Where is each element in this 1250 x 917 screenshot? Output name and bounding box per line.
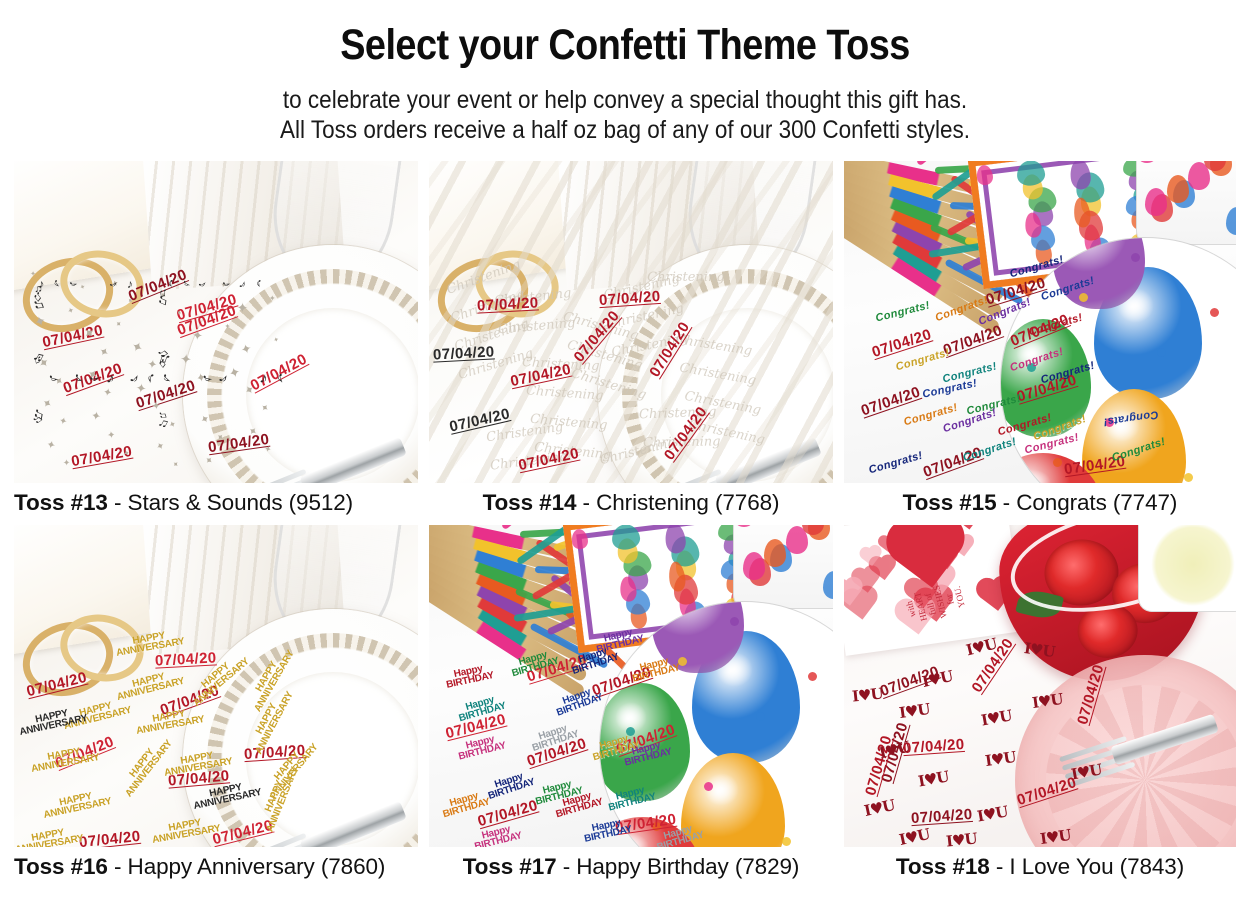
product-sku: (7829)	[735, 854, 799, 879]
confetti-sprinkle: ♪	[167, 277, 175, 292]
product-photo-birthday[interactable]: 07/04/2007/04/2007/04/2007/04/2007/04/20…	[429, 525, 833, 847]
valentine-card: withHEARTfull ofWISHESforYOU.	[844, 525, 1025, 656]
confetti-word: HAPPYANNIVERSARY	[14, 825, 84, 847]
confetti-word: HAPPYANNIVERSARY	[29, 745, 100, 775]
wedding-rings-icon	[22, 615, 142, 693]
confetti-sprinkle: ✦	[268, 293, 275, 302]
confetti-word: I♥U	[945, 829, 977, 847]
product-photo-i-love-you[interactable]: withHEARTfull ofWISHESforYOU.07/04/2007/…	[844, 525, 1236, 847]
product-theme: Happy Anniversary	[128, 854, 315, 879]
confetti-word: Congrats!	[894, 347, 951, 374]
subtitle-line-2: All Toss orders receive a half oz bag of…	[63, 115, 1188, 145]
party-cup	[1136, 161, 1236, 245]
confetti-date: 07/04/20	[870, 326, 934, 361]
confetti-date: 07/04/20	[910, 806, 973, 827]
confetti-word: Congrats!	[875, 299, 932, 324]
confetti-word: HappyBIRTHDAY	[456, 693, 507, 724]
product-separator: -	[576, 490, 596, 515]
confetti-sprinkle: ✦	[233, 302, 251, 315]
confetti-word: HAPPYANNIVERSARY	[41, 788, 112, 820]
confetti-sprinkle: ✦	[30, 270, 36, 278]
product-name: Toss #17	[463, 854, 557, 879]
confetti-date: 07/04/20	[859, 383, 923, 419]
confetti-word: HappyBIRTHDAY	[533, 777, 584, 806]
product-name: Toss #13	[14, 490, 108, 515]
confetti-sprinkle: ✦	[179, 350, 192, 368]
confetti-date: 07/04/20	[968, 635, 1017, 696]
confetti-date: 07/04/20	[78, 828, 141, 847]
product-cell-toss-17[interactable]: 07/04/2007/04/2007/04/2007/04/2007/04/20…	[429, 525, 833, 889]
product-caption-toss-15: Toss #15 - Congrats (7747)	[844, 483, 1236, 525]
confetti-word: HappyBIRTHDAY	[553, 789, 604, 820]
confetti-sprinkle: ♪	[69, 371, 87, 388]
confetti-word: HAPPYANNIVERSARY	[17, 705, 88, 737]
confetti-word: HappyBIRTHDAY	[440, 789, 491, 820]
confetti-date: 07/04/20	[444, 711, 508, 742]
confetti-sprinkle: ♪	[105, 370, 117, 388]
confetti-word: HappyBIRTHDAY	[528, 721, 580, 753]
product-theme: Stars & Sounds	[128, 490, 283, 515]
product-photo-christening[interactable]: WeddingChristeningChristeningChristening…	[429, 161, 833, 483]
product-caption-toss-17: Toss #17 - Happy Birthday (7829)	[429, 847, 833, 889]
product-name: Toss #15	[903, 490, 997, 515]
product-name: Toss #18	[896, 854, 990, 879]
product-cell-toss-14[interactable]: WeddingChristeningChristeningChristening…	[429, 161, 833, 525]
confetti-word: HappyBIRTHDAY	[444, 662, 495, 690]
confetti-sprinkle: ✦	[127, 338, 147, 356]
product-cell-toss-18[interactable]: withHEARTfull ofWISHESforYOU.07/04/2007/…	[844, 525, 1236, 889]
product-photo-congrats[interactable]: 07/04/2007/04/2007/04/2007/04/2007/04/20…	[844, 161, 1236, 483]
page-title: Select your Confetti Theme Toss	[75, 0, 1175, 67]
subtitle-line-1: to celebrate your event or help convey a…	[63, 85, 1188, 115]
confetti-date: 07/04/20	[53, 733, 116, 772]
confetti-sprinkle: ✦	[60, 459, 71, 467]
confetti-date: 07/04/20	[476, 797, 540, 830]
product-sku: (7747)	[1113, 490, 1177, 515]
product-caption-toss-18: Toss #18 - I Love You (7843)	[844, 847, 1236, 889]
confetti-word: HAPPYANNIVERSARY	[61, 697, 132, 731]
confetti-sprinkle: ✦	[121, 447, 131, 458]
confetti-sprinkle: ♪	[127, 277, 133, 291]
confetti-word: I♥U	[851, 684, 883, 705]
product-separator: -	[108, 854, 128, 879]
confetti-date: 07/04/20	[862, 733, 895, 797]
confetti-sprinkle: ♫	[31, 298, 49, 311]
product-separator: -	[108, 490, 128, 515]
product-name: Toss #16	[14, 854, 108, 879]
confetti-sprinkle: ✦	[223, 323, 231, 329]
confetti-sprinkle: ♪	[220, 280, 234, 287]
confetti-date: 07/04/20	[525, 735, 589, 770]
confetti-word: HappyBIRTHDAY	[472, 822, 523, 847]
product-sku: (7843)	[1120, 854, 1184, 879]
confetti-word: Congrats!	[902, 402, 959, 429]
confetti-word: I♥U	[878, 737, 912, 762]
product-sku: (9512)	[289, 490, 353, 515]
product-theme: I Love You	[1009, 854, 1113, 879]
confetti-sprinkle: ✦	[90, 408, 103, 424]
confetti-sprinkle: ✦	[169, 459, 180, 470]
toss-gallery: Wedding07/04/2007/04/2007/04/2007/04/200…	[14, 161, 1236, 889]
confetti-word: HappyBIRTHDAY	[484, 769, 536, 801]
confetti-word: Congrats!	[867, 450, 924, 477]
product-photo-anniversary[interactable]: Wedding07/04/2007/04/2007/04/2007/04/200…	[14, 525, 418, 847]
product-theme: Congrats	[1016, 490, 1107, 515]
tea-cup	[1138, 525, 1236, 612]
product-sku: (7768)	[715, 490, 779, 515]
confetti-word: Congrats!	[922, 378, 979, 401]
confetti-word: Congrats!	[941, 361, 998, 386]
confetti-date: 07/04/20	[921, 444, 985, 481]
product-theme: Christening	[596, 490, 709, 515]
confetti-sprinkle: ✦	[96, 343, 112, 360]
product-separator: -	[990, 854, 1010, 879]
confetti-sprinkle: ✦	[149, 400, 163, 411]
confetti-date: 07/04/20	[878, 721, 911, 785]
confetti-word: HAPPYANNIVERSARY	[117, 733, 174, 799]
confetti-word: I♥U	[917, 767, 950, 790]
confetti-word: I♥U	[976, 803, 1009, 826]
confetti-word: Congrats!	[961, 436, 1018, 465]
product-caption-toss-14: Toss #14 - Christening (7768)	[429, 483, 833, 525]
product-theme: Happy Birthday	[576, 854, 728, 879]
page-subtitle: to celebrate your event or help convey a…	[63, 85, 1188, 145]
embossed-word: Christening	[647, 270, 725, 285]
confetti-word: I♥U	[984, 748, 1017, 770]
party-cup	[733, 525, 833, 609]
product-sku: (7860)	[321, 854, 385, 879]
confetti-sprinkle: ✦	[153, 440, 167, 453]
product-photo-stars-sounds[interactable]: Wedding07/04/2007/04/2007/04/2007/04/200…	[14, 161, 418, 483]
page-header: Select your Confetti Theme Toss to celeb…	[0, 0, 1250, 145]
confetti-sprinkle: ♪	[158, 370, 176, 387]
product-separator: -	[557, 854, 577, 879]
confetti-date: 07/04/20	[902, 735, 965, 756]
confetti-word: HappyBIRTHDAY	[456, 732, 507, 761]
confetti-word: I♥U	[898, 700, 931, 722]
confetti-word: I♥U	[980, 706, 1013, 729]
confetti-sprinkle: ✦	[191, 328, 204, 345]
confetti-sprinkle: ♪	[66, 281, 80, 287]
confetti-word: Congrats!	[942, 407, 999, 436]
confetti-sprinkle: ♪	[146, 370, 156, 388]
product-separator: -	[997, 490, 1017, 515]
confetti-word: I♥U	[897, 825, 931, 847]
product-name: Toss #14	[483, 490, 577, 515]
confetti-sprinkle: ✦	[56, 415, 69, 426]
confetti-date: 07/04/20	[878, 663, 942, 700]
product-cell-toss-15[interactable]: 07/04/2007/04/2007/04/2007/04/2007/04/20…	[844, 161, 1236, 525]
product-cell-toss-16[interactable]: Wedding07/04/2007/04/2007/04/2007/04/200…	[14, 525, 418, 889]
confetti-word: I♥U	[862, 796, 896, 820]
confetti-sprinkle: ✦	[106, 428, 116, 440]
product-caption-toss-16: Toss #16 - Happy Anniversary (7860)	[14, 847, 418, 889]
confetti-sprinkle: ✦	[43, 438, 58, 450]
product-caption-toss-13: Toss #13 - Stars & Sounds (9512)	[14, 483, 418, 525]
confetti-word: I♥U	[921, 667, 955, 691]
product-cell-toss-13[interactable]: Wedding07/04/2007/04/2007/04/2007/04/200…	[14, 161, 418, 525]
